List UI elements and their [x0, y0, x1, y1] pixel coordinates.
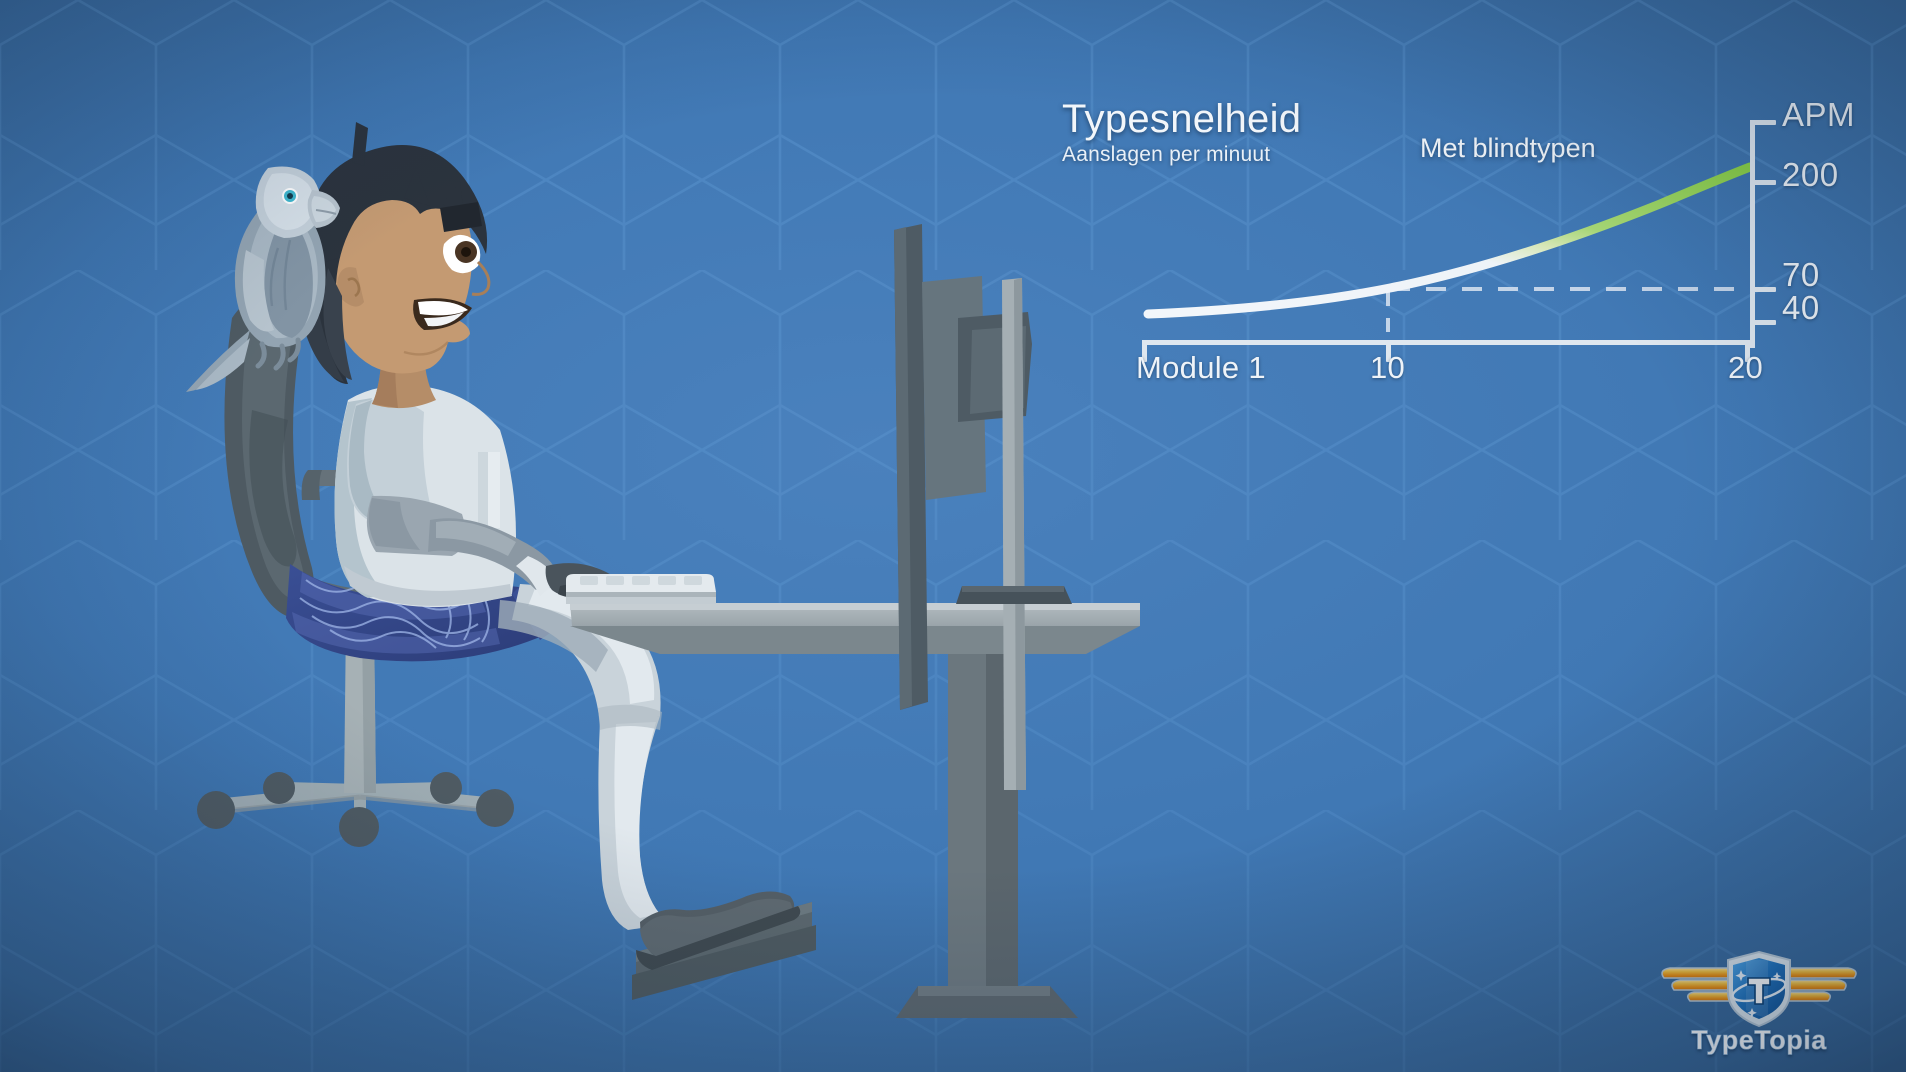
y-tick-label-40: 40 [1782, 289, 1820, 327]
x-tick-label-10: 10 [1370, 350, 1405, 386]
scene-canvas: Typesnelheid Aanslagen per minuut Met bl… [0, 0, 1906, 1072]
y-tick-200 [1750, 180, 1776, 185]
typing-speed-chart: APM 200 70 40 Module 1 10 20 [1060, 92, 1880, 412]
x-axis-line [1142, 340, 1754, 345]
typetopia-logo[interactable]: TypeTopia [1648, 938, 1870, 1058]
x-tick-label-module-1: Module 1 [1136, 350, 1266, 386]
y-axis-line [1750, 120, 1755, 348]
y-tick-label-200: 200 [1782, 156, 1839, 194]
y-tick-40 [1750, 320, 1776, 325]
x-tick-label-20: 20 [1728, 350, 1763, 386]
y-tick-apm [1750, 120, 1776, 125]
y-tick-70 [1750, 287, 1776, 292]
logo-wordmark: TypeTopia [1648, 1025, 1870, 1056]
shield-icon [1728, 952, 1790, 1026]
character-torso [335, 385, 517, 607]
keyboard [566, 574, 716, 604]
typing-speed-curve [1148, 167, 1750, 314]
y-axis-label-apm: APM [1782, 96, 1855, 134]
